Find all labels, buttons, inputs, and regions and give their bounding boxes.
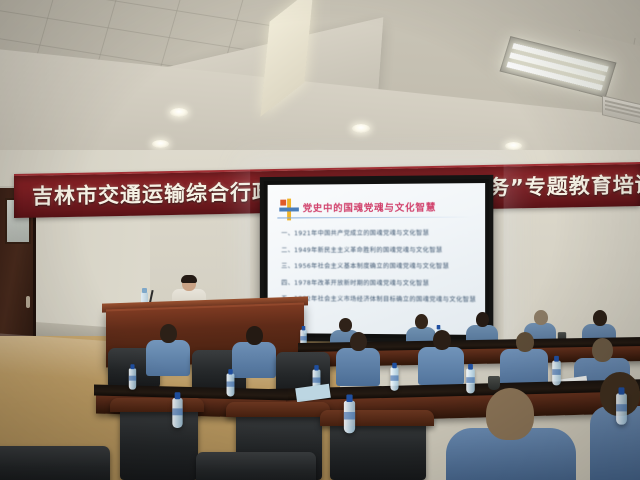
water-bottle <box>129 368 136 389</box>
attendee-torso <box>232 342 276 378</box>
ceiling-downlight <box>505 142 522 150</box>
attendee-head <box>516 332 534 352</box>
chair <box>226 402 330 417</box>
training-room-photo: 吉林市交通运输综合行政执法 、强服务”专题教育培训 党史中的国魂党魂与文化智慧 … <box>0 0 640 480</box>
water-bottle <box>616 393 627 424</box>
slide-bullet-item: 四、1978年改革开放新时期的国魂党魂与文化智慧 <box>281 277 477 287</box>
water-bottle <box>552 361 561 386</box>
attendee-torso <box>418 347 464 385</box>
attendee <box>146 324 190 374</box>
attendee <box>418 330 464 382</box>
slide-title: 党史中的国魂党魂与文化智慧 <box>303 199 477 214</box>
ceiling-downlight <box>152 140 169 148</box>
attendee-head <box>433 330 451 350</box>
attendee <box>446 388 576 480</box>
attendee-head <box>246 326 263 345</box>
ceiling-downlight <box>170 108 188 117</box>
attendee-head <box>534 310 548 325</box>
attendee-head <box>486 388 534 440</box>
water-bottle <box>390 367 398 390</box>
water-bottle <box>227 374 235 397</box>
ceiling-downlight <box>352 124 370 133</box>
attendee-torso <box>590 406 640 480</box>
attendee-head <box>339 318 352 332</box>
chair <box>0 446 110 480</box>
attendee-head <box>415 314 428 329</box>
attendee <box>232 326 276 376</box>
attendee-torso <box>336 348 380 386</box>
chair <box>320 410 434 426</box>
attendee <box>590 372 640 480</box>
water-bottle <box>172 398 182 428</box>
slide-bullet-item: 五、1992年社会主义市场经济体制目标确立的国魂党魂与文化智慧 <box>281 294 477 304</box>
attendee-head <box>592 338 613 362</box>
door-handle[interactable] <box>26 296 30 308</box>
chair <box>110 398 204 412</box>
chair <box>120 404 198 480</box>
attendee-head <box>350 332 367 351</box>
attendee-torso <box>146 340 190 376</box>
slide-bullet-item: 一、1921年中国共产党成立的国魂党魂与文化智慧 <box>281 228 477 238</box>
water-bottle <box>344 401 355 434</box>
attendee-head <box>160 324 177 343</box>
attendee <box>336 332 380 382</box>
slide-bullet-item: 二、1949年新民主主义革命胜利的国魂党魂与文化智慧 <box>281 244 477 253</box>
speaker-hair <box>181 275 197 283</box>
attendee-head <box>593 310 607 326</box>
slide-title-underline <box>277 217 473 219</box>
slide-bullet-item: 三、1956年社会主义基本制度确立的国魂党魂与文化智慧 <box>281 261 477 270</box>
chair <box>196 452 316 480</box>
attendee <box>500 332 548 386</box>
attendee-head <box>476 312 489 327</box>
slide-bullet-list: 一、1921年中国共产党成立的国魂党魂与文化智慧 二、1949年新民主主义革命胜… <box>281 228 477 311</box>
